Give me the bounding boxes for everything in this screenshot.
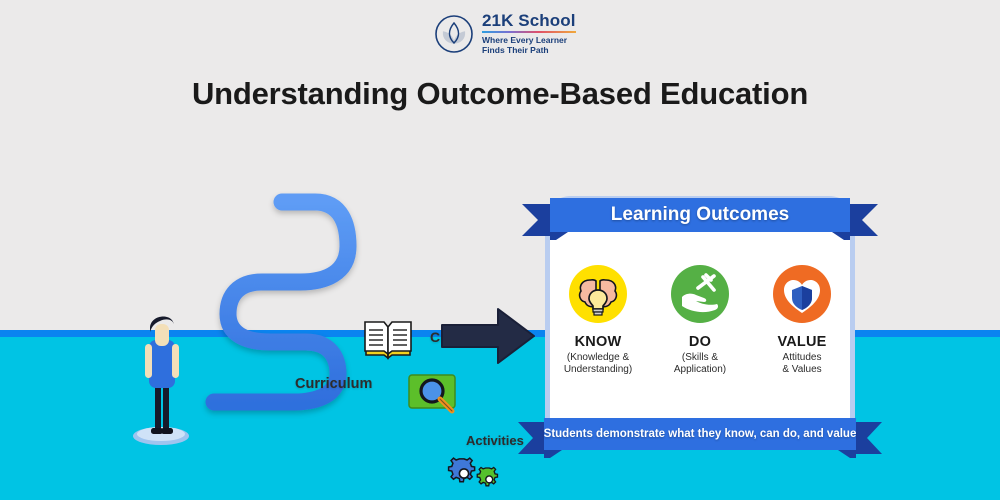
pillar-know-title: KNOW [575,334,622,350]
pillar-value-subtitle: Attitudes& Values [782,352,821,376]
pillar-know: KNOW (Knowledge &Understanding) [552,264,644,400]
infographic-canvas: 21K School Where Every Learner Finds The… [0,0,1000,500]
label-curriculum-lower: Curriculum [295,376,372,392]
student-figure-icon [130,306,192,446]
summary-banner-label: Students demonstrate what they know, can… [518,418,882,450]
pillar-do: DO (Skills &Application) [654,264,746,400]
brand-logo: 21K School Where Every Learner Finds The… [434,10,584,58]
gear-green-icon [476,465,504,493]
pillar-do-subtitle: (Skills &Application) [674,352,726,376]
brand-tagline: Where Every Learner Finds Their Path [482,35,576,56]
lotus-circle-icon [434,14,474,54]
brand-tagline-line2: Finds Their Path [482,45,576,56]
heart-shield-icon [772,264,832,324]
open-book-icon [362,318,414,362]
brand-name: 21K School [482,12,576,30]
label-activities: Activities [466,433,524,448]
brain-lightbulb-icon [568,264,628,324]
magnifying-glass-icon [406,372,466,418]
right-arrow-icon [440,305,536,367]
pillar-do-title: DO [689,334,711,350]
learning-outcomes-banner-label: Learning Outcomes [522,198,878,232]
pillar-value: VALUE Attitudes& Values [756,264,848,400]
pillar-know-subtitle: (Knowledge &Understanding) [564,352,632,376]
page-title: Understanding Outcome-Based Education [0,76,1000,112]
brand-rule [482,31,576,33]
pillar-value-title: VALUE [777,334,826,350]
outcome-pillars: KNOW (Knowledge &Understanding) DO (Skil… [552,264,848,400]
hand-tools-icon [670,264,730,324]
brand-tagline-line1: Where Every Learner [482,35,576,46]
brand-text: 21K School Where Every Learner Finds The… [482,12,576,56]
